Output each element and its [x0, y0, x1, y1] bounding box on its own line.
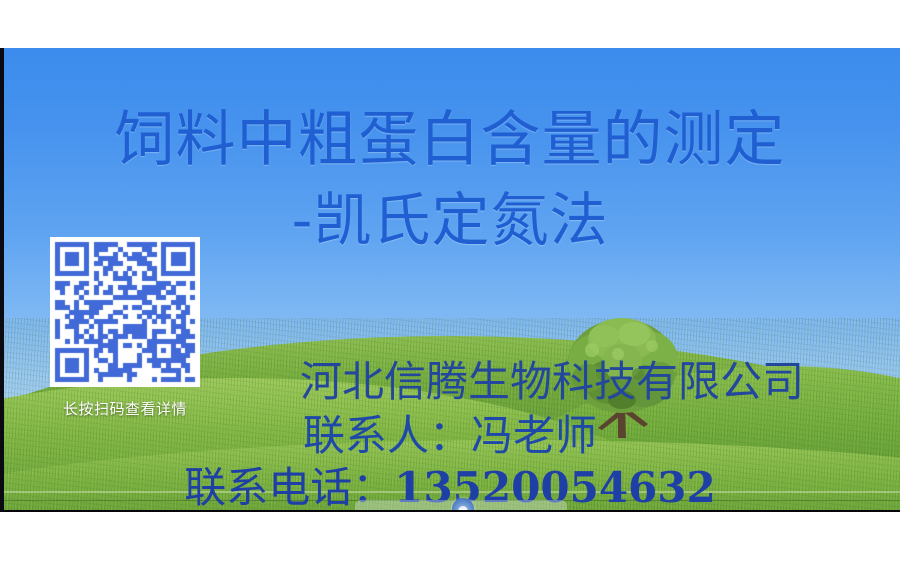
qr-code-image[interactable] [50, 237, 200, 387]
qr-code-card[interactable] [50, 237, 200, 387]
video-left-letterbox-edge [0, 48, 4, 512]
qr-code-caption: 长按扫码查看详情 [22, 398, 228, 419]
page-root: 饲料中粗蛋白含量的测定 -凯氏定氮法 长按扫码查看详情 河北信腾生物科技有限公司… [0, 0, 900, 561]
video-player-frame[interactable]: 饲料中粗蛋白含量的测定 -凯氏定氮法 长按扫码查看详情 河北信腾生物科技有限公司… [0, 48, 900, 512]
contact-person-text: 联系人：冯老师 [0, 415, 900, 457]
company-name-text: 河北信腾生物科技有限公司 [300, 361, 804, 403]
video-frame-bottom-edge [0, 510, 900, 512]
